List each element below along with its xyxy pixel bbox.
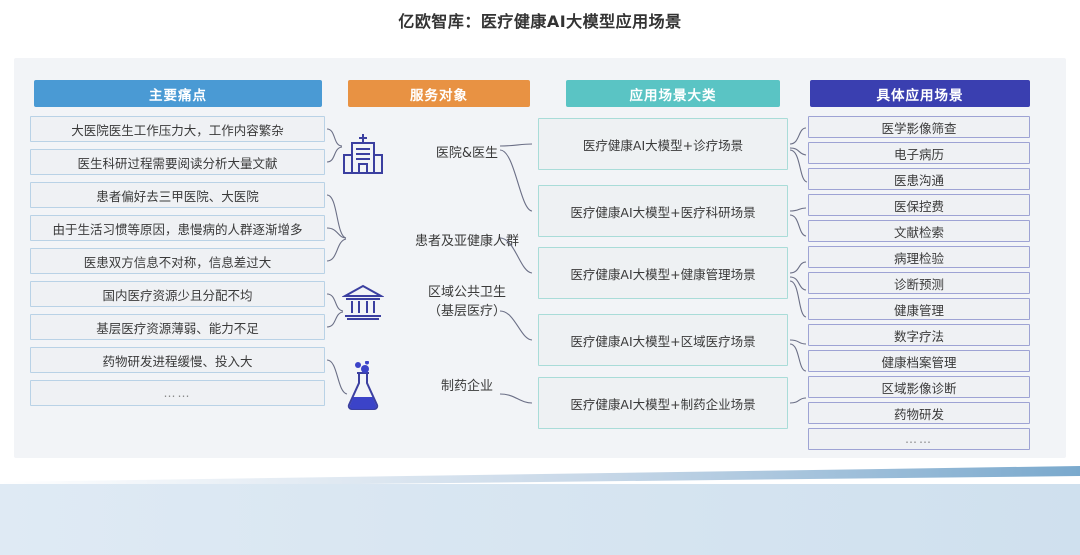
- service-object-label: 患者及亚健康人群: [394, 232, 540, 252]
- specific-scenario-item: 药物研发: [808, 402, 1030, 424]
- service-object-pharma: 制药企业: [340, 361, 540, 413]
- service-object-label: 医院&医生: [394, 144, 540, 164]
- pain-point-item: 医患双方信息不对称，信息差过大: [30, 248, 325, 274]
- scenario-category-item: 医疗健康AI大模型+区域医疗场景: [538, 314, 788, 366]
- pain-point-item: 国内医疗资源少且分配不均: [30, 281, 325, 307]
- column-header-pain-points: 主要痛点: [34, 80, 322, 107]
- service-object-label-line2: （基层医疗）: [428, 304, 506, 319]
- service-object-patients: 患者及亚健康人群: [340, 216, 540, 268]
- scenario-category-item: 医疗健康AI大模型+医疗科研场景: [538, 185, 788, 237]
- scenario-category-item: 医疗健康AI大模型+健康管理场景: [538, 247, 788, 299]
- column-header-service-objects: 服务对象: [348, 80, 530, 107]
- specific-scenario-item: 健康管理: [808, 298, 1030, 320]
- specific-scenario-item: 病理检验: [808, 246, 1030, 268]
- service-object-label: 区域公共卫生 （基层医疗）: [394, 283, 540, 322]
- scenario-category-item: 医疗健康AI大模型+诊疗场景: [538, 118, 788, 170]
- service-objects-column: 医院&医生 患者及亚健康人群 区域公共卫生 （基层医疗）: [340, 116, 540, 416]
- specific-scenarios-column: 医学影像筛查电子病历医患沟通医保控费文献检索病理检验诊断预测健康管理数字疗法健康…: [808, 116, 1030, 454]
- pain-point-item: 大医院医生工作压力大，工作内容繁杂: [30, 116, 325, 142]
- specific-scenario-item: 医患沟通: [808, 168, 1030, 190]
- scenario-category-item: 医疗健康AI大模型+制药企业场景: [538, 377, 788, 429]
- specific-scenario-item: 医学影像筛查: [808, 116, 1030, 138]
- band-background: [0, 462, 1080, 555]
- pain-point-item: 由于生活习惯等原因，患慢病的人群逐渐增多: [30, 215, 325, 241]
- specific-scenario-item: 文献检索: [808, 220, 1030, 242]
- hospital-icon: [340, 128, 386, 180]
- pain-point-item: 药物研发进程缓慢、投入大: [30, 347, 325, 373]
- service-object-label-line1: 区域公共卫生: [428, 285, 506, 300]
- specific-scenario-item: 诊断预测: [808, 272, 1030, 294]
- pain-point-item: 基层医疗资源薄弱、能力不足: [30, 314, 325, 340]
- specific-scenario-item: 医保控费: [808, 194, 1030, 216]
- pain-point-item: 医生科研过程需要阅读分析大量文献: [30, 149, 325, 175]
- none-icon: [340, 216, 386, 268]
- specific-scenario-item: 区域影像诊断: [808, 376, 1030, 398]
- vendor-band: 阿里巴巴通义仁心腾讯混元京东京医千询百度文心华为盘古商汤大医智谱AI百川智能: [0, 462, 1080, 555]
- pain-point-item: ……: [30, 380, 325, 406]
- column-header-scenario-category: 应用场景大类: [566, 80, 780, 107]
- page-title: 亿欧智库：医疗健康AI大模型应用场景: [0, 8, 1080, 32]
- infographic-root: 亿欧智库：医疗健康AI大模型应用场景 主要痛点 服务对象 应用场景大类 具体应用…: [0, 0, 1080, 555]
- flask-icon: [340, 361, 386, 413]
- specific-scenario-item: 健康档案管理: [808, 350, 1030, 372]
- specific-scenario-item: 数字疗法: [808, 324, 1030, 346]
- government-building-icon: [340, 276, 386, 328]
- specific-scenario-item: ……: [808, 428, 1030, 450]
- service-object-label: 制药企业: [394, 377, 540, 397]
- pain-points-column: 大医院医生工作压力大，工作内容繁杂医生科研过程需要阅读分析大量文献患者偏好去三甲…: [30, 116, 325, 413]
- service-object-hospital: 医院&医生: [340, 128, 540, 180]
- pain-point-item: 患者偏好去三甲医院、大医院: [30, 182, 325, 208]
- service-object-public-health: 区域公共卫生 （基层医疗）: [340, 276, 540, 328]
- specific-scenario-item: 电子病历: [808, 142, 1030, 164]
- column-header-specific-scenarios: 具体应用场景: [810, 80, 1030, 107]
